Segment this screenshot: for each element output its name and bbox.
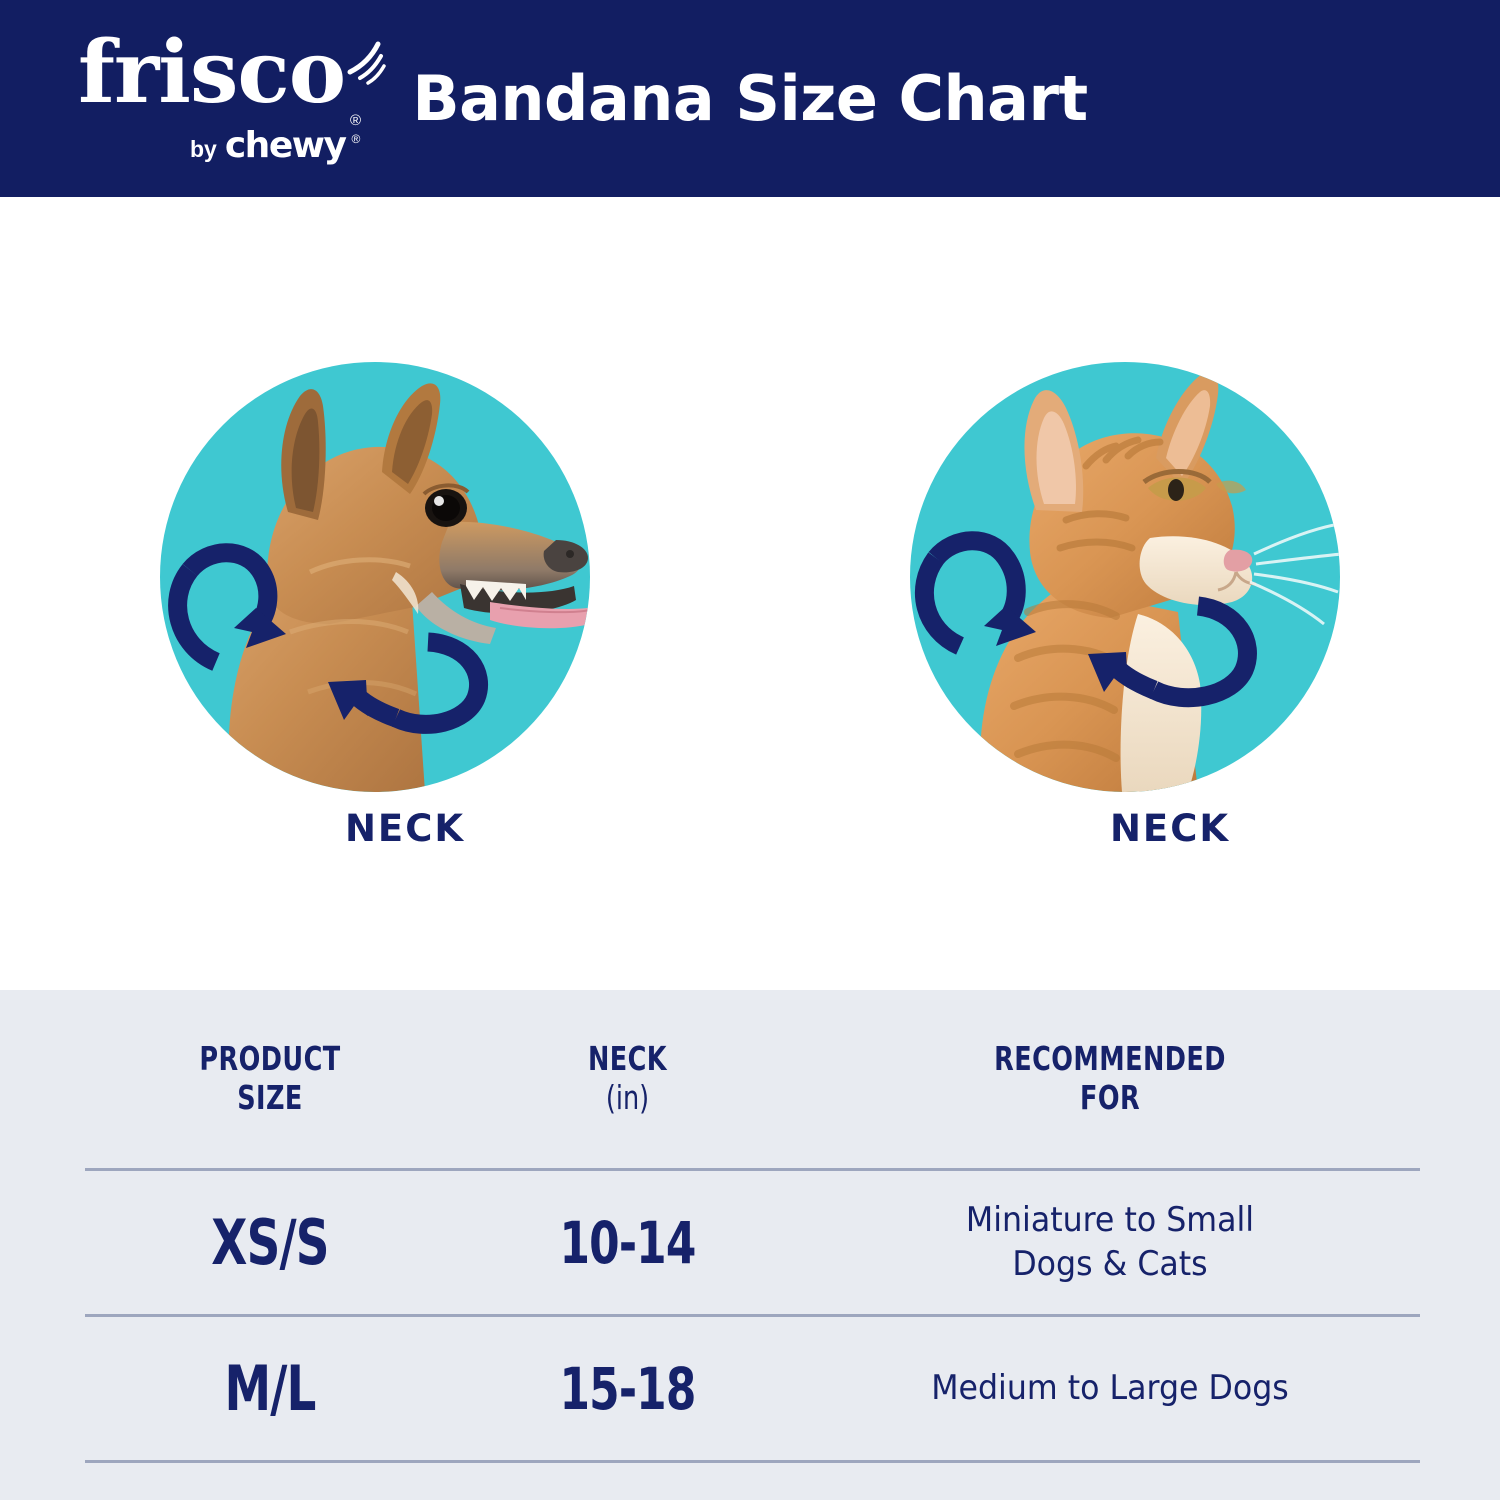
table-header-row: PRODUCT SIZE NECK (in) RECOMMENDED FOR [85, 990, 1420, 1168]
table-divider [85, 1460, 1420, 1463]
cat-neck-measure-arrows [910, 362, 1340, 792]
column-header-recommended-line1: RECOMMENDED [843, 1040, 1376, 1079]
row-size-value: M/L [115, 1352, 426, 1425]
column-header-neck-unit: (in) [479, 1079, 776, 1118]
cat-figure [910, 362, 1340, 792]
brand-registered-mark: ® [350, 112, 361, 129]
row-neck-value: 10-14 [483, 1209, 773, 1277]
column-header-product-size: PRODUCT SIZE [111, 1040, 429, 1118]
dog-neck-measure-arrows [160, 362, 590, 792]
brand-parent-label: chewy [225, 128, 346, 164]
row-size-value: XS/S [115, 1206, 426, 1279]
table-row: M/L 15-18 Medium to Large Dogs [85, 1317, 1420, 1460]
column-header-recommended-line2: FOR [843, 1079, 1376, 1118]
header-bar: frisco ® by chewy ® Bandana Size Chart [0, 0, 1500, 197]
column-header-product-size-line1: PRODUCT [111, 1040, 429, 1079]
cat-neck-label: NECK [1110, 807, 1230, 850]
bandana-size-chart-page: frisco ® by chewy ® Bandana Size Chart [0, 0, 1500, 1500]
brand-subline: by chewy ® [190, 128, 362, 164]
row-neck-value: 15-18 [483, 1355, 773, 1423]
brand-by-label: by [190, 136, 217, 163]
row-recommended-line1: Miniature to Small [822, 1199, 1399, 1243]
row-recommended-value: Miniature to Small Dogs & Cats [822, 1199, 1399, 1286]
column-header-product-size-line2: SIZE [111, 1079, 429, 1118]
cat-illustration-block: NECK [750, 197, 1500, 990]
dog-figure [160, 362, 590, 792]
column-header-recommended-for: RECOMMENDED FOR [843, 1040, 1376, 1118]
table-row: XS/S 10-14 Miniature to Small Dogs & Cat… [85, 1171, 1420, 1314]
brand-parent-registered-mark: ® [351, 132, 360, 146]
row-recommended-line2: Dogs & Cats [822, 1243, 1399, 1287]
brand-wordmark: frisco [78, 30, 345, 116]
size-table-section: PRODUCT SIZE NECK (in) RECOMMENDED FOR X… [0, 990, 1500, 1500]
frisco-brand-logo: frisco ® by chewy ® [78, 30, 378, 170]
column-header-neck-line1: NECK [479, 1040, 776, 1079]
row-recommended-value: Medium to Large Dogs [822, 1367, 1399, 1411]
illustration-section: NECK [0, 197, 1500, 990]
row-recommended-line1: Medium to Large Dogs [822, 1367, 1399, 1411]
swoosh-icon [336, 38, 386, 88]
dog-neck-label: NECK [345, 807, 465, 850]
column-header-neck: NECK (in) [479, 1040, 776, 1118]
dog-illustration-block: NECK [0, 197, 750, 990]
size-table: PRODUCT SIZE NECK (in) RECOMMENDED FOR X… [85, 990, 1420, 1463]
